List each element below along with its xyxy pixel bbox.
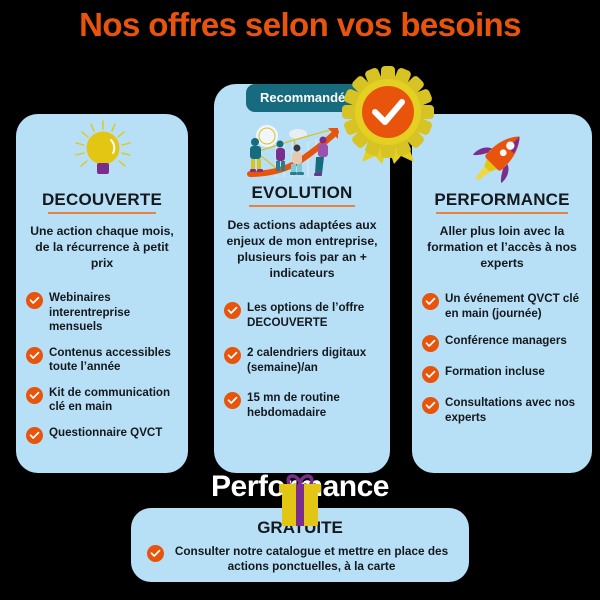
list-item-label: Un événement QVCT clé en main (journée) bbox=[445, 292, 584, 321]
check-circle-icon bbox=[26, 387, 43, 404]
feature-list-decouverte: Webinaires interentreprise mensuels Cont… bbox=[16, 291, 188, 444]
list-item[interactable]: Consulter notre catalogue et mettre en p… bbox=[131, 538, 469, 574]
card-description-evolution: Des actions adaptées aux enjeux de mon e… bbox=[214, 217, 390, 281]
list-item[interactable]: Un événement QVCT clé en main (journée) bbox=[422, 292, 584, 321]
list-item-label: Questionnaire QVCT bbox=[49, 426, 162, 441]
title-underline bbox=[249, 205, 355, 207]
check-circle-icon bbox=[422, 293, 439, 310]
list-item-label: Les options de l’offre DECOUVERTE bbox=[247, 301, 382, 330]
check-circle-icon bbox=[26, 292, 43, 309]
card-description-performance: Aller plus loin avec la formation et l’a… bbox=[412, 223, 592, 271]
check-circle-icon bbox=[26, 347, 43, 364]
list-item-label: 2 calendriers digitaux (semaine)/an bbox=[247, 346, 382, 375]
list-item-label: 15 mn de routine hebdomadaire bbox=[247, 391, 382, 420]
check-circle-icon bbox=[422, 335, 439, 352]
feature-list-performance: Un événement QVCT clé en main (journée) … bbox=[412, 292, 592, 425]
list-item-label: Formation incluse bbox=[445, 365, 545, 380]
card-description-decouverte: Une action chaque mois, de la récurrence… bbox=[16, 223, 188, 271]
list-item-label: Webinaires interentreprise mensuels bbox=[49, 291, 180, 335]
check-circle-icon bbox=[147, 545, 164, 562]
list-item[interactable]: Contenus accessibles toute l’année bbox=[26, 346, 180, 375]
list-item[interactable]: Formation incluse bbox=[422, 365, 584, 383]
list-item-label: Contenus accessibles toute l’année bbox=[49, 346, 180, 375]
offers-pricing-graphic: Nos offres selon vos besoins DECOUVERTE … bbox=[0, 0, 600, 600]
check-circle-icon bbox=[422, 397, 439, 414]
list-item[interactable]: Webinaires interentreprise mensuels bbox=[26, 291, 180, 335]
list-item[interactable]: Les options de l’offre DECOUVERTE bbox=[224, 301, 382, 330]
rocket-icon bbox=[468, 126, 530, 193]
check-circle-icon bbox=[224, 392, 241, 409]
list-item-label: Consulter notre catalogue et mettre en p… bbox=[170, 544, 453, 574]
title-underline bbox=[436, 212, 568, 214]
rosette-check-icon bbox=[340, 62, 436, 166]
feature-list-evolution: Les options de l’offre DECOUVERTE 2 cale… bbox=[214, 301, 390, 420]
list-item[interactable]: Conférence managers bbox=[422, 334, 584, 352]
list-item[interactable]: Consultations avec nos experts bbox=[422, 396, 584, 425]
gift-icon bbox=[269, 470, 331, 535]
check-circle-icon bbox=[224, 302, 241, 319]
list-item[interactable]: Questionnaire QVCT bbox=[26, 426, 180, 444]
check-circle-icon bbox=[224, 347, 241, 364]
title-underline bbox=[48, 212, 156, 214]
card-title-decouverte: DECOUVERTE bbox=[16, 190, 188, 210]
check-circle-icon bbox=[422, 366, 439, 383]
check-circle-icon bbox=[26, 427, 43, 444]
page-title: Nos offres selon vos besoins bbox=[0, 6, 600, 44]
list-item-label: Conférence managers bbox=[445, 334, 567, 349]
list-item-label: Kit de communication clé en main bbox=[49, 386, 180, 415]
list-item[interactable]: 2 calendriers digitaux (semaine)/an bbox=[224, 346, 382, 375]
list-item[interactable]: 15 mn de routine hebdomadaire bbox=[224, 391, 382, 420]
list-item-label: Consultations avec nos experts bbox=[445, 396, 584, 425]
card-title-performance: PERFORMANCE bbox=[412, 190, 592, 210]
lightbulb-icon bbox=[73, 120, 133, 187]
list-item[interactable]: Kit de communication clé en main bbox=[26, 386, 180, 415]
